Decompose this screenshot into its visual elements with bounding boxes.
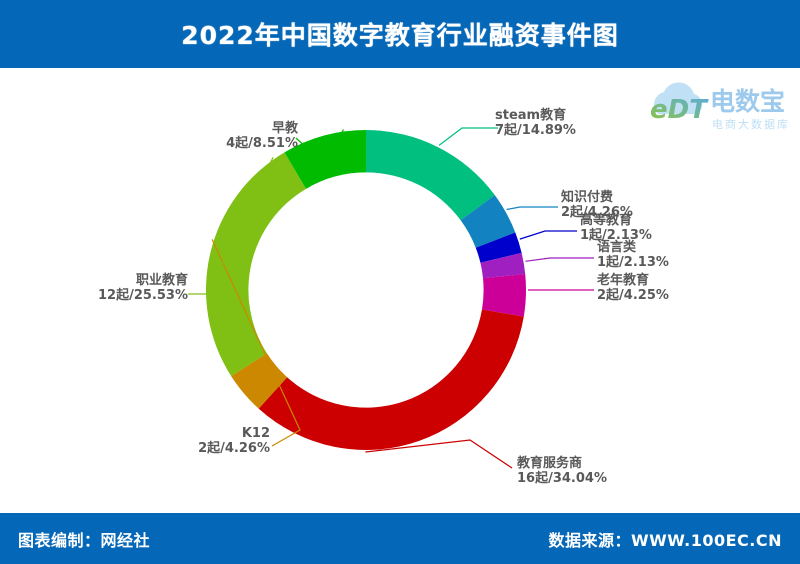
slice-label-value: 12起/25.53% xyxy=(8,288,188,303)
donut-slice-4[interactable] xyxy=(482,274,526,317)
slice-label-value: 2起/4.25% xyxy=(597,288,669,303)
slice-label-education-service: 教育服务商 16起/34.04% xyxy=(517,456,607,486)
donut-slice-0[interactable] xyxy=(366,130,495,220)
slice-label-senior-education: 老年教育 2起/4.25% xyxy=(597,273,669,303)
slice-label-k12: K12 2起/4.26% xyxy=(110,426,270,456)
slice-label-name: 老年教育 xyxy=(597,273,669,288)
footer-credit: 图表编制：网经社 xyxy=(18,527,150,551)
slice-label-value: 2起/4.26% xyxy=(110,441,270,456)
brand-logo: eDT 电数宝 电商大数据库 xyxy=(648,78,793,140)
donut-slice-5[interactable] xyxy=(259,310,524,450)
slice-label-higher-education: 高等教育 1起/2.13% xyxy=(580,213,652,243)
slice-label-early-education: 早教 4起/8.51% xyxy=(128,121,298,151)
chart-footer-bar: 图表编制：网经社 数据来源：WWW.100EC.CN xyxy=(0,513,800,564)
leader-line-3 xyxy=(525,258,594,261)
slice-label-name: steam教育 xyxy=(495,108,576,123)
slice-label-name: K12 xyxy=(110,426,270,441)
donut-slice-7[interactable] xyxy=(206,152,306,376)
chart-header-bar: 2022年中国数字教育行业融资事件图 xyxy=(0,0,800,68)
chart-stage: steam教育 7起/14.89% 知识付费 2起/4.26% 高等教育 1起/… xyxy=(0,68,800,513)
slice-label-value: 1起/2.13% xyxy=(597,255,669,270)
logo-artwork: eDT 电数宝 电商大数据库 xyxy=(648,78,793,140)
leader-line-0 xyxy=(439,128,498,145)
slice-label-value: 16起/34.04% xyxy=(517,471,607,486)
logo-brand-text: 电数宝 xyxy=(710,87,785,116)
slice-label-vocational: 职业教育 12起/25.53% xyxy=(8,273,188,303)
slice-label-name: 知识付费 xyxy=(561,190,633,205)
slice-label-name: 语言类 xyxy=(597,240,669,255)
logo-tagline-text: 电商大数据库 xyxy=(712,117,790,131)
slice-label-value: 7起/14.89% xyxy=(495,123,576,138)
logo-mark-text: eDT xyxy=(650,95,709,125)
slice-label-value: 4起/8.51% xyxy=(128,136,298,151)
donut-slices xyxy=(206,130,526,450)
slice-label-name: 职业教育 xyxy=(8,273,188,288)
leader-line-1 xyxy=(507,207,558,209)
page-title: 2022年中国数字教育行业融资事件图 xyxy=(181,16,619,52)
slice-label-language: 语言类 1起/2.13% xyxy=(597,240,669,270)
slice-label-name: 高等教育 xyxy=(580,213,652,228)
slice-label-steam: steam教育 7起/14.89% xyxy=(495,108,576,138)
slice-label-name: 教育服务商 xyxy=(517,456,607,471)
leader-line-2 xyxy=(520,231,577,239)
slice-label-name: 早教 xyxy=(128,121,298,136)
footer-source: 数据来源：WWW.100EC.CN xyxy=(548,527,782,551)
